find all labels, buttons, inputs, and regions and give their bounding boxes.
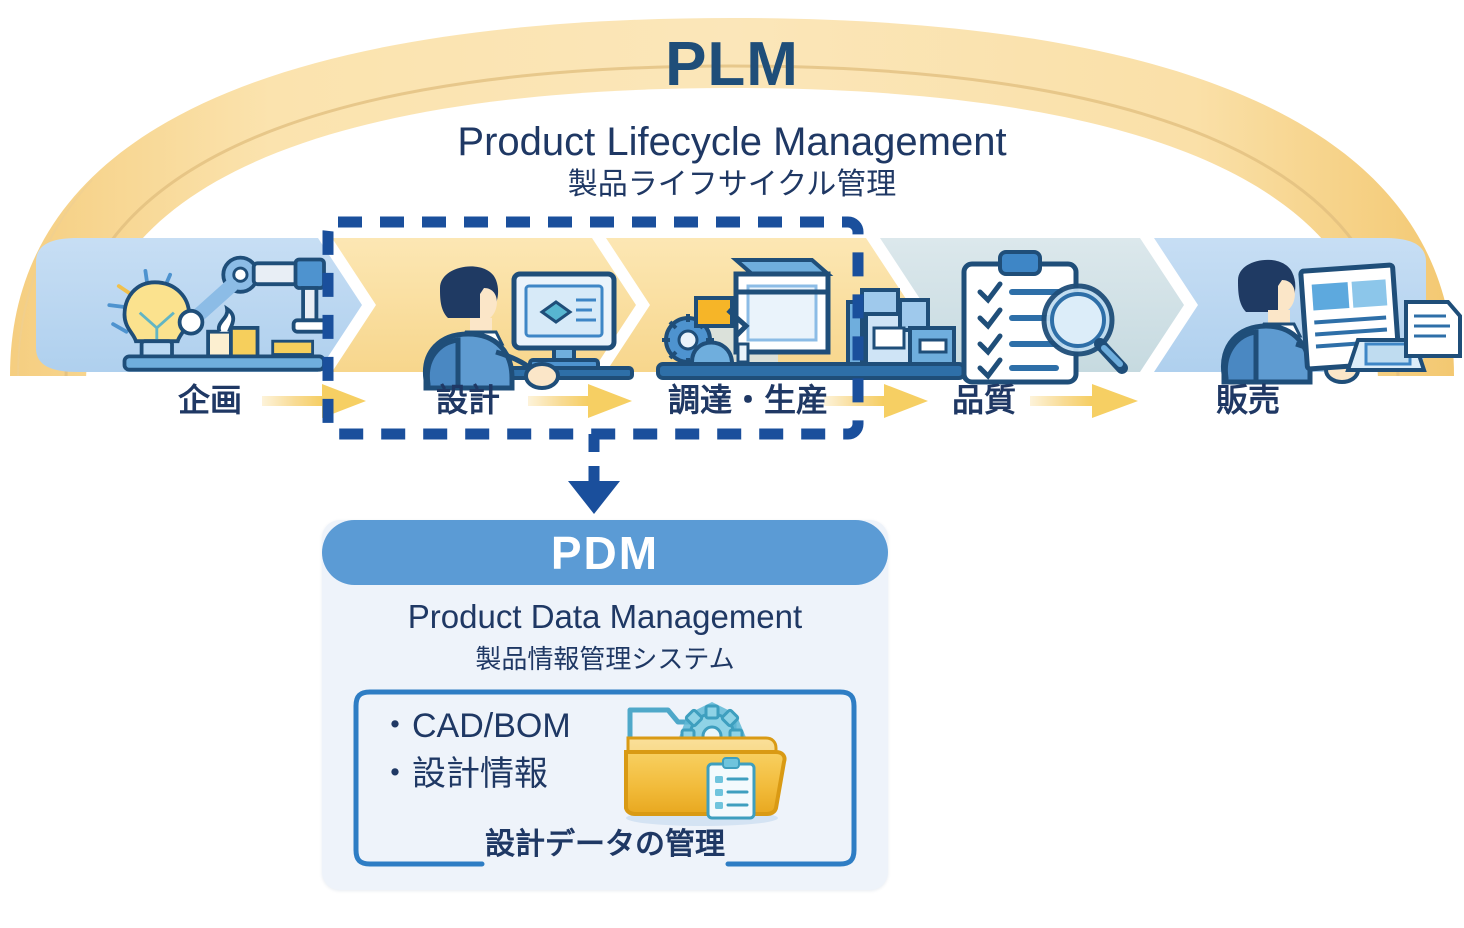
folder-gear-clipboard-icon (604, 696, 794, 826)
pdm-bullet-list: ・CAD/BOM ・設計情報 (378, 702, 608, 799)
pdm-subtitle-jp: 製品情報管理システム (322, 646, 888, 672)
dashed-highlight-box[interactable] (328, 222, 858, 434)
pdm-inner-panel: ・CAD/BOM ・設計情報 (352, 688, 858, 868)
pdm-header: PDM (322, 520, 888, 585)
dashed-highlight-group (0, 0, 1464, 560)
pdm-caption-text: 設計データの管理 (471, 828, 739, 861)
pdm-title: PDM (551, 530, 659, 576)
pdm-bullet-2: ・設計情報 (378, 750, 608, 798)
plm-pdm-diagram: PLM Product Lifecycle Management 製品ライフサイ… (0, 0, 1464, 928)
pdm-subtitle-en: Product Data Management (322, 600, 888, 633)
dashed-down-arrow (568, 434, 620, 514)
pdm-inner-caption: 設計データの管理 (352, 830, 858, 860)
pdm-card[interactable]: PDM Product Data Management 製品情報管理システム ・… (322, 520, 888, 890)
pdm-bullet-1: ・CAD/BOM (378, 702, 608, 750)
